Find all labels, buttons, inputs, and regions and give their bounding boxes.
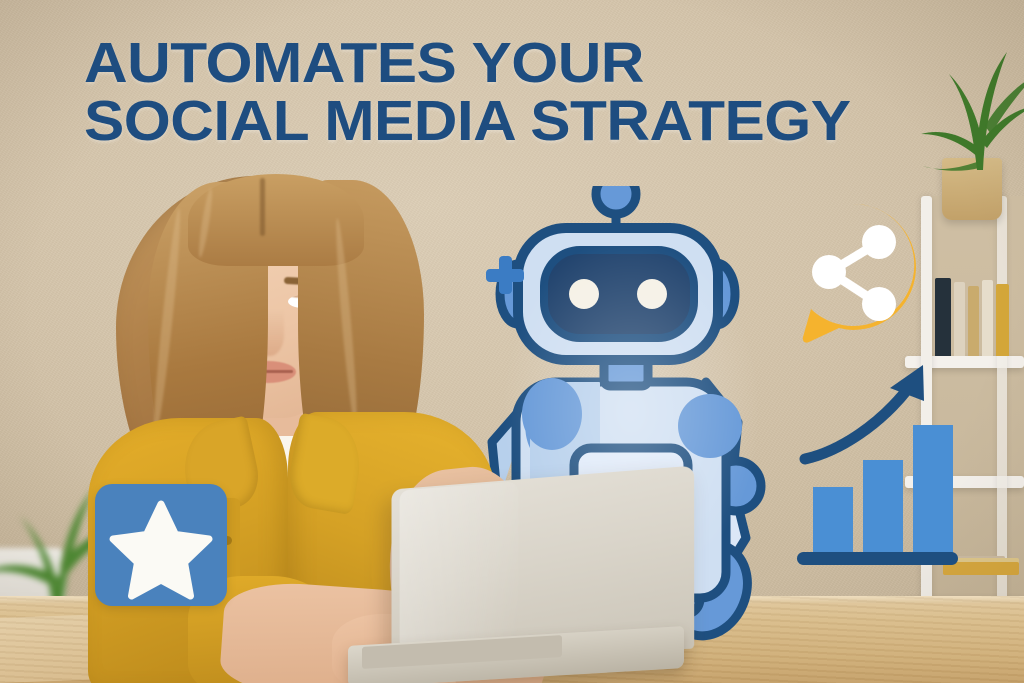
bar [863,460,903,555]
share-speech-bubble-icon[interactable] [788,200,918,348]
hair-parting [260,178,265,236]
chart-baseline [797,552,958,565]
laptop[interactable] [338,478,690,683]
star-badge-icon[interactable] [95,484,227,606]
growth-bar-chart [795,352,960,567]
page-title: AUTOMATES YOUR SOCIAL MEDIA STRATEGY [84,34,964,150]
star-icon [95,484,227,606]
bar [913,425,953,555]
bar [813,487,853,555]
laptop-lid-highlight [400,481,519,650]
share-nodes-icon [812,225,896,321]
growth-arrow-icon [805,365,924,459]
plus-icon [486,256,524,294]
headline-line-1: AUTOMATES YOUR [84,31,644,95]
headline-line-2: SOCIAL MEDIA STRATEGY [84,92,964,150]
promo-banner: AUTOMATES YOUR SOCIAL MEDIA STRATEGY [0,0,1024,683]
